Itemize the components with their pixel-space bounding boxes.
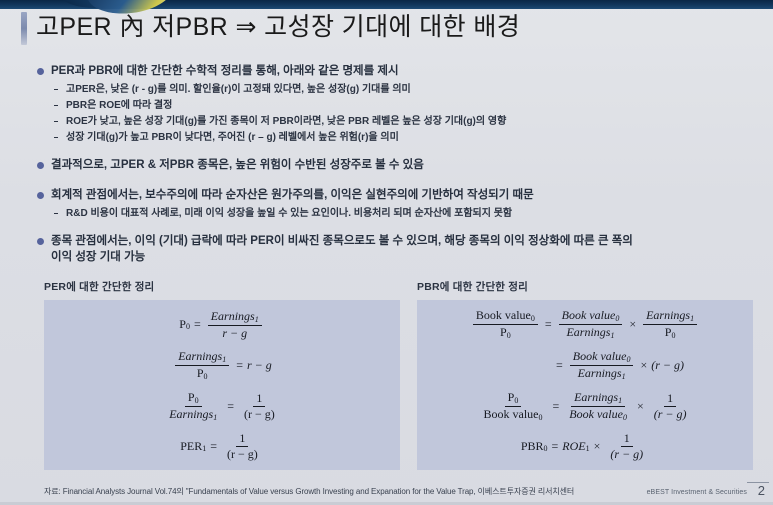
fraction: Earnings1 P0 — [643, 309, 697, 340]
presentation-slide: 고PER 內 저PBR ⇒ 고성장 기대에 대한 배경 PER과 PBR에 대한… — [0, 0, 773, 505]
bullet-4-line-2: 이익 성장 기대 가능 — [51, 249, 766, 265]
pbr-formula-1: Book value0 P0 = Book value0 Earnings1 ×… — [470, 309, 700, 340]
body-content: PER과 PBR에 대한 간단한 수학적 정리를 통해, 아래와 같은 명제를 … — [36, 63, 766, 268]
symbol-equals: = — [210, 439, 217, 454]
fraction-denominator: (r − g) — [224, 447, 261, 461]
symbol-earnings: Earnings — [178, 349, 222, 363]
fraction: Earnings1 r − g — [208, 310, 262, 340]
pbr-formula-3: P0 Book value0 = Earnings1 Book value0 ×… — [478, 391, 693, 422]
fraction-denominator: (r − g) — [651, 407, 690, 421]
fraction-denominator: Earnings1 — [166, 407, 220, 422]
symbol-sub-0: 0 — [507, 331, 511, 340]
bullet-dot-icon — [37, 192, 44, 199]
fraction: 1 (r − g) — [651, 392, 690, 421]
symbol-sub-1: 1 — [255, 315, 259, 324]
sub-bullet-1b: PBR은 ROE에 따라 결정 — [36, 98, 766, 113]
expr-r-minus-g-paren: (r − g) — [651, 358, 684, 373]
symbol-sub-0: 0 — [204, 372, 208, 381]
fraction: 1 (r − g) — [224, 432, 261, 461]
symbol-equals: = — [556, 358, 563, 373]
bullet-4-line-1: 종목 관점에서는, 이익 (기대) 급락에 따라 PER이 비싸진 종목으로도 … — [51, 233, 766, 249]
symbol-bookvalue: Book value — [476, 308, 531, 322]
panel-pbr-title: PBR에 대한 간단한 정리 — [417, 279, 753, 294]
fraction-numerator: 1 — [253, 392, 265, 407]
symbol-sub-1: 1 — [610, 331, 614, 340]
fraction: 1 (r − g) — [241, 392, 278, 421]
sub-bullet-1c: ROE가 낮고, 높은 성장 기대(g)를 가진 종목이 저 PBR이라면, 낮… — [36, 114, 766, 129]
symbol-P: P — [500, 325, 507, 339]
fraction-numerator: Book value0 — [559, 309, 623, 325]
symbol-bookvalue: Book value — [484, 407, 539, 421]
fraction-denominator: (r − g) — [607, 447, 646, 461]
title-accent-bar — [21, 12, 27, 45]
symbol-sub-0: 0 — [623, 413, 627, 422]
symbol-equals: = — [227, 399, 234, 414]
symbol-roe: ROE — [562, 439, 585, 454]
pbr-formula-2: = Book value0 Earnings1 × (r − g) — [486, 350, 684, 381]
company-brand-label: eBEST Investment & Securities — [647, 489, 747, 496]
pbr-formula-stack: Book value0 P0 = Book value0 Earnings1 ×… — [417, 300, 753, 470]
bullet-1-text: PER과 PBR에 대한 간단한 수학적 정리를 통해, 아래와 같은 명제를 … — [51, 63, 766, 79]
symbol-earnings: Earnings — [566, 325, 610, 339]
fraction-numerator: Earnings1 — [175, 350, 229, 366]
fraction-numerator: Earnings1 — [571, 391, 625, 407]
fraction: 1 (r − g) — [607, 432, 646, 461]
pbr-formula-4: PBR0 = ROE1 × 1 (r − g) — [521, 432, 649, 461]
page-title: 고PER 內 저PBR ⇒ 고성장 기대에 대한 배경 — [36, 9, 520, 45]
symbol-sub-1: 1 — [586, 444, 590, 453]
dash-icon — [54, 105, 58, 107]
symbol-times: × — [594, 439, 601, 454]
top-decorative-band — [0, 0, 773, 9]
fraction-numerator: Book value0 — [473, 309, 538, 325]
fraction: Earnings1 P0 — [175, 350, 229, 381]
fraction-numerator: P0 — [505, 391, 522, 407]
sub-bullet-3a: R&D 비용이 대표적 사례로, 미래 이익 성장을 높일 수 있는 요인이나.… — [36, 206, 766, 221]
symbol-per: PER — [180, 439, 202, 454]
symbol-bookvalue: Book value — [562, 308, 616, 322]
sub-bullet-1d-text: 성장 기대(g)가 높고 PBR이 낮다면, 주어진 (r – g) 레벨에서 … — [66, 132, 399, 143]
symbol-equals: = — [545, 317, 552, 332]
symbol-sub-1: 1 — [618, 396, 622, 405]
fraction-numerator: P0 — [185, 391, 202, 407]
per-formula-2: Earnings1 P0 = r − g — [172, 350, 272, 381]
bullet-dot-icon — [37, 162, 44, 169]
fraction-numerator: 1 — [621, 432, 633, 447]
symbol-sub-0: 0 — [544, 444, 548, 453]
dash-icon — [54, 121, 58, 123]
fraction-numerator: 1 — [236, 432, 248, 447]
per-formula-stack: P0 = Earnings1 r − g Earnings1 P0 — [44, 300, 400, 470]
symbol-earnings: Earnings — [578, 366, 622, 380]
dash-icon — [54, 89, 58, 91]
symbol-bookvalue: Book value — [569, 407, 623, 421]
fraction: Book value0 Earnings1 — [570, 350, 634, 381]
symbol-equals: = — [194, 317, 201, 332]
bullet-2-text: 결과적으로, 고PER & 저PBR 종목은, 높은 위험이 수반된 성장주로 … — [51, 157, 766, 173]
bullet-item-4: 종목 관점에서는, 이익 (기대) 급락에 따라 PER이 비싸진 종목으로도 … — [36, 233, 766, 265]
symbol-sub-1: 1 — [690, 314, 694, 323]
spacer — [36, 222, 766, 233]
symbol-earnings: Earnings — [211, 309, 255, 323]
fraction-numerator: Earnings1 — [208, 310, 262, 326]
symbol-sub-0: 0 — [514, 396, 518, 405]
panel-per-title: PER에 대한 간단한 정리 — [44, 279, 400, 294]
symbol-earnings: Earnings — [646, 308, 690, 322]
fraction: Book value0 P0 — [473, 309, 538, 340]
spacer — [36, 176, 766, 187]
symbol-sub-0: 0 — [626, 355, 630, 364]
symbol-P: P — [197, 366, 204, 380]
panel-pbr: PBR에 대한 간단한 정리 Book value0 P0 = Book val… — [417, 279, 753, 470]
symbol-sub-1: 1 — [202, 444, 206, 453]
symbol-sub-0: 0 — [195, 396, 199, 405]
sub-bullet-1a: 고PER은, 낮은 (r - g)를 의미. 할인율(r)이 고정돼 있다면, … — [36, 82, 766, 97]
symbol-equals: = — [236, 358, 243, 373]
bullet-dot-icon — [37, 68, 44, 75]
symbol-times: × — [637, 399, 644, 414]
fraction-denominator: P0 — [497, 325, 514, 340]
formula-panels: PER에 대한 간단한 정리 P0 = Earnings1 r − g — [44, 279, 734, 470]
bullet-item-2: 결과적으로, 고PER & 저PBR 종목은, 높은 위험이 수반된 성장주로 … — [36, 157, 766, 173]
symbol-sub-1: 1 — [222, 355, 226, 364]
fraction-denominator: Book value0 — [481, 407, 546, 422]
fraction-denominator: Earnings1 — [575, 366, 629, 381]
fraction-numerator: Book value0 — [570, 350, 634, 366]
dash-icon — [54, 137, 58, 139]
symbol-P: P — [188, 390, 195, 404]
symbol-sub-0: 0 — [615, 314, 619, 323]
fraction: Earnings1 Book value0 — [566, 391, 630, 422]
symbol-pbr: PBR — [521, 439, 544, 454]
fraction: P0 Earnings1 — [166, 391, 220, 422]
panel-pbr-formula-box: Book value0 P0 = Book value0 Earnings1 ×… — [417, 300, 753, 470]
fraction-denominator: P0 — [662, 325, 679, 340]
symbol-times: × — [629, 317, 636, 332]
sub-bullet-3a-text: R&D 비용이 대표적 사례로, 미래 이익 성장을 높일 수 있는 요인이나.… — [66, 208, 512, 219]
symbol-equals: = — [553, 399, 560, 414]
bullet-item-1: PER과 PBR에 대한 간단한 수학적 정리를 통해, 아래와 같은 명제를 … — [36, 63, 766, 79]
bullet-item-3: 회계적 관점에서는, 보수주의에 따라 순자산은 원가주의를, 이익은 실현주의… — [36, 187, 766, 203]
bullet-3-text: 회계적 관점에서는, 보수주의에 따라 순자산은 원가주의를, 이익은 실현주의… — [51, 187, 766, 203]
fraction: P0 Book value0 — [481, 391, 546, 422]
panel-per: PER에 대한 간단한 정리 P0 = Earnings1 r − g — [44, 279, 400, 470]
symbol-sub-0: 0 — [671, 331, 675, 340]
symbol-earnings: Earnings — [574, 390, 618, 404]
symbol-sub-0: 0 — [539, 413, 543, 422]
symbol-sub-1: 1 — [622, 372, 626, 381]
sub-bullet-1a-text: 고PER은, 낮은 (r - g)를 의미. 할인율(r)이 고정돼 있다면, … — [66, 84, 411, 95]
symbol-sub-0: 0 — [531, 314, 535, 323]
symbol-earnings: Earnings — [169, 407, 213, 421]
symbol-times: × — [640, 358, 647, 373]
spacer — [36, 146, 766, 157]
symbol-equals: = — [552, 439, 559, 454]
fraction: Book value0 Earnings1 — [559, 309, 623, 340]
source-note: 자료: Financial Analysts Journal Vol.74의 "… — [44, 486, 574, 497]
symbol-sub-1: 1 — [213, 413, 217, 422]
fraction-denominator: r − g — [219, 326, 250, 340]
sub-bullet-1b-text: PBR은 ROE에 따라 결정 — [66, 100, 172, 111]
fraction-denominator: Book value0 — [566, 407, 630, 422]
fraction-numerator: 1 — [664, 392, 676, 407]
bullet-dot-icon — [37, 238, 44, 245]
dash-icon — [54, 213, 58, 215]
per-formula-4: PER1 = 1 (r − g) — [180, 432, 264, 461]
panel-per-formula-box: P0 = Earnings1 r − g Earnings1 P0 — [44, 300, 400, 470]
symbol-P: P — [179, 317, 186, 332]
fraction-denominator: P0 — [194, 366, 211, 381]
sub-bullet-1c-text: ROE가 낮고, 높은 성장 기대(g)를 가진 종목이 저 PBR이라면, 낮… — [66, 116, 506, 127]
sub-bullet-1d: 성장 기대(g)가 높고 PBR이 낮다면, 주어진 (r – g) 레벨에서 … — [36, 130, 766, 145]
fraction-denominator: Earnings1 — [563, 325, 617, 340]
symbol-sub-0: 0 — [186, 322, 190, 331]
expr-r-minus-g: r − g — [247, 358, 272, 373]
fraction-numerator: Earnings1 — [643, 309, 697, 325]
per-formula-3: P0 Earnings1 = 1 (r − g) — [163, 391, 281, 422]
fraction-denominator: (r − g) — [241, 407, 278, 421]
page-number: 2 — [758, 483, 765, 498]
per-formula-1: P0 = Earnings1 r − g — [179, 310, 264, 340]
symbol-bookvalue: Book value — [573, 349, 627, 363]
